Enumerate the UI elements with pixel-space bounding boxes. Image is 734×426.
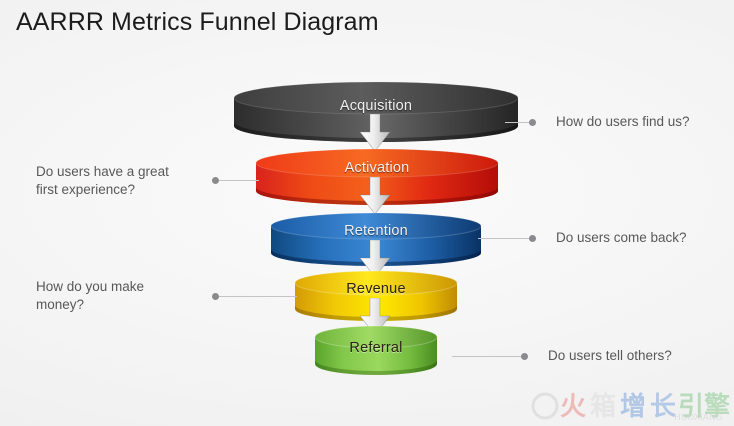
callout-retention: Do users come back? bbox=[556, 229, 687, 247]
callout-connector-line bbox=[505, 122, 531, 123]
callout-referral: Do users tell others? bbox=[548, 347, 672, 365]
callout-connector-dot bbox=[212, 293, 219, 300]
callout-activation: Do users have a great first experience? bbox=[36, 163, 169, 199]
callout-connector-dot bbox=[529, 119, 536, 126]
callout-connector-dot bbox=[529, 235, 536, 242]
diagram-canvas: AARRR Metrics Funnel Diagram bbox=[0, 0, 734, 426]
callout-connector-line bbox=[217, 180, 259, 181]
callout-connector-line bbox=[452, 356, 524, 357]
callout-connector-line bbox=[217, 296, 297, 297]
callout-connector-line bbox=[478, 238, 531, 239]
callout-acquisition: How do users find us? bbox=[556, 113, 690, 131]
funnel-stage-referral[interactable]: Referral bbox=[315, 326, 437, 388]
callout-connector-dot bbox=[212, 177, 219, 184]
callout-revenue: How do you make money? bbox=[36, 278, 144, 314]
callout-connector-dot bbox=[521, 353, 528, 360]
